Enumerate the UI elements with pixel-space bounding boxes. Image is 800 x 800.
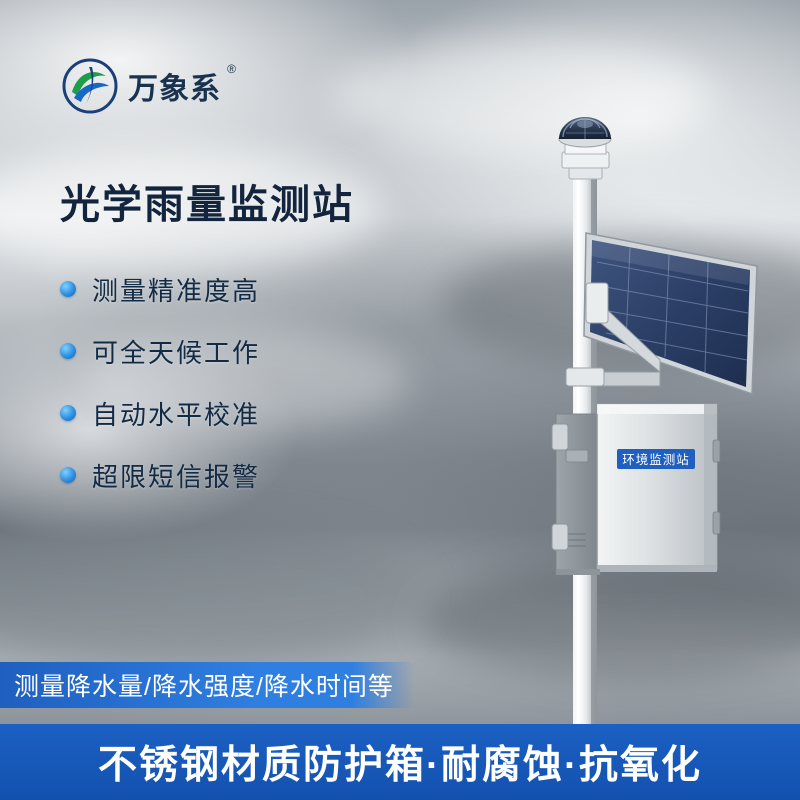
list-item: 测量精准度高 — [60, 258, 380, 320]
bottom-banner: 不锈钢材质防护箱·耐腐蚀·抗氧化 — [0, 724, 800, 800]
bottom-banner-text: 不锈钢材质防护箱·耐腐蚀·抗氧化 — [98, 734, 702, 790]
feature-list: 测量精准度高 可全天候工作 自动水平校准 超限短信报警 — [60, 258, 380, 506]
stainless-steel-cabinet: 环境监测站 — [552, 404, 720, 575]
registered-mark: ® — [227, 62, 237, 76]
list-item: 超限短信报警 — [60, 444, 380, 506]
feature-label: 自动水平校准 — [92, 395, 260, 432]
swirl-logo-icon — [62, 58, 118, 114]
measurement-ribbon: 测量降水量/降水强度/降水时间等 — [0, 662, 414, 708]
product-banner: 环境监测站 万象系 ® 光学雨量监测站 — [0, 0, 800, 800]
cabinet-label: 环境监测站 — [622, 452, 690, 467]
optical-rain-sensor — [559, 117, 611, 179]
blue-dot-icon — [60, 467, 76, 483]
feature-label: 可全天候工作 — [92, 333, 260, 370]
solar-panel — [566, 233, 757, 394]
brand-logo: 万象系 ® — [62, 58, 221, 114]
page-title: 光学雨量监测站 — [60, 172, 354, 230]
brand-name-text: 万象系 ® — [128, 64, 221, 108]
blue-dot-icon — [60, 281, 76, 297]
feature-label: 超限短信报警 — [92, 457, 260, 494]
brand-name: 万象系 — [128, 73, 221, 106]
ribbon-text: 测量降水量/降水强度/降水时间等 — [14, 667, 394, 703]
blue-dot-icon — [60, 343, 76, 359]
feature-label: 测量精准度高 — [92, 271, 260, 308]
blue-dot-icon — [60, 405, 76, 421]
list-item: 可全天候工作 — [60, 320, 380, 382]
list-item: 自动水平校准 — [60, 382, 380, 444]
